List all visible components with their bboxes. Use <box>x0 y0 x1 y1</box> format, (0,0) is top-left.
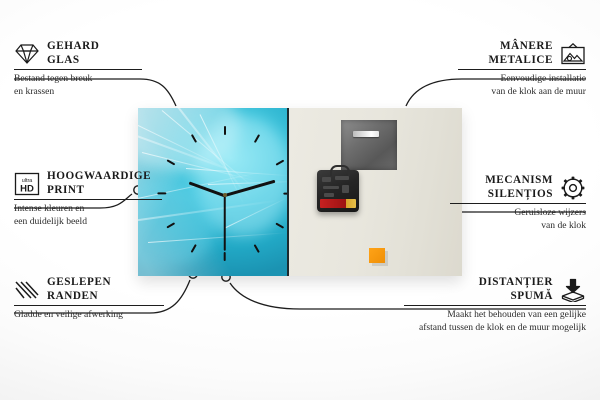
mechanism-detail <box>335 176 349 180</box>
feature-title: MÂNERE METALICE <box>489 40 554 67</box>
mechanism-loop <box>330 165 350 176</box>
clock-tick <box>275 222 284 228</box>
clock-tick <box>253 244 259 253</box>
foam-spacer <box>369 248 385 263</box>
feature-header: DISTANȚIER SPUMĂ <box>404 276 586 303</box>
feature-geslepen-randen: GESLEPEN RANDEN Gladde en veilige afwerk… <box>14 276 164 322</box>
feature-title: MECANISM SILENȚIOS <box>485 174 553 201</box>
feature-rule <box>404 305 586 306</box>
gear-icon <box>560 176 586 200</box>
feature-description: Eenvoudige installatie van de klok aan d… <box>458 73 586 98</box>
feature-rule <box>14 305 164 306</box>
spacer-arrow-icon <box>560 278 586 302</box>
feature-description: Intense kleuren en een duidelijk beeld <box>14 203 162 228</box>
feature-distantier-spuma: DISTANȚIER SPUMĂ Maakt het behouden van … <box>404 276 586 334</box>
feature-header: ultra HD HOOGWAARDIGE PRINT <box>14 170 162 197</box>
feature-gehard-glas: GEHARD GLAS Bestand tegen breuk en krass… <box>14 40 142 98</box>
mechanism-detail <box>324 193 334 197</box>
infographic-canvas: GEHARD GLAS Bestand tegen breuk en krass… <box>0 0 600 400</box>
feature-description: Gladde en veilige afwerking <box>14 309 164 321</box>
feature-header: GESLEPEN RANDEN <box>14 276 164 303</box>
svg-text:HD: HD <box>20 183 34 194</box>
feature-rule <box>14 199 162 200</box>
feature-header: MÂNERE METALICE <box>458 40 586 67</box>
feature-rule <box>450 203 586 204</box>
beveled-edges-icon <box>14 279 40 301</box>
ultra-hd-icon: ultra HD <box>14 172 40 196</box>
metal-hanger-plate <box>341 120 397 170</box>
feature-header: GEHARD GLAS <box>14 40 142 67</box>
mechanism-detail <box>342 185 349 193</box>
clock-tick <box>224 126 226 135</box>
feature-hoogwaardige-print: ultra HD HOOGWAARDIGE PRINT Intense kleu… <box>14 170 162 228</box>
diamond-icon <box>14 43 40 65</box>
hanger-slot <box>353 131 379 137</box>
feature-rule <box>458 69 586 70</box>
product-image <box>138 108 462 276</box>
feature-header: MECANISM SILENȚIOS <box>450 174 586 201</box>
feature-manere-metalice: MÂNERE METALICE Eenvoudige installatie v… <box>458 40 586 98</box>
clock-back-panel <box>287 108 462 276</box>
mechanism-detail <box>323 186 339 189</box>
feature-title: DISTANȚIER SPUMĂ <box>479 276 553 303</box>
feature-rule <box>14 69 142 70</box>
picture-frame-icon <box>560 43 586 65</box>
mechanism-detail <box>322 177 331 182</box>
clock-hub <box>223 193 227 197</box>
feature-title: GEHARD GLAS <box>47 40 99 67</box>
clock-tick <box>224 252 226 261</box>
feature-description: Bestand tegen breuk en krassen <box>14 73 142 98</box>
feature-description: Geruisloze wijzers van de klok <box>450 207 586 232</box>
quartz-mechanism <box>317 170 359 212</box>
feature-description: Maakt het behouden van een gelijke afsta… <box>404 309 586 334</box>
feature-title: HOOGWAARDIGE PRINT <box>47 170 151 197</box>
feature-title: GESLEPEN RANDEN <box>47 276 111 303</box>
battery <box>320 199 356 208</box>
feature-mecanism-silentios: MECANISM SILENȚIOS <box>450 174 586 232</box>
second-hand <box>224 195 226 251</box>
